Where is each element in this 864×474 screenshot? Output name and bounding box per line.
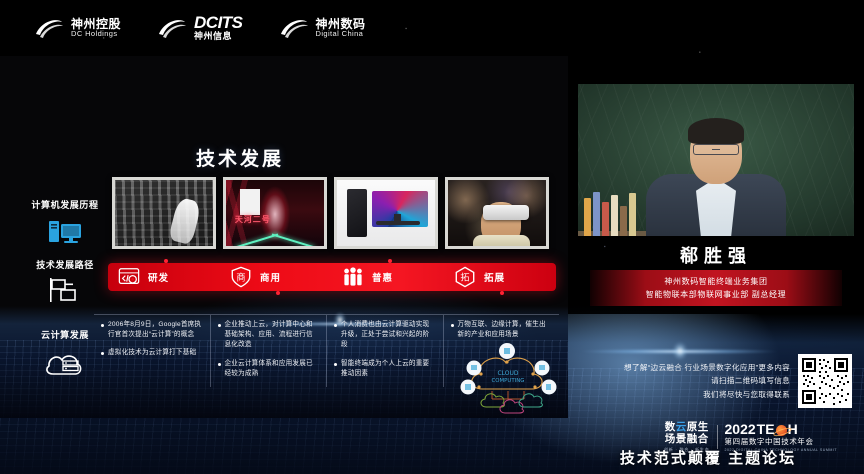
speaker-hair <box>688 118 744 144</box>
bullet-item: 智能终端成为个人上云的重要推动因素 <box>334 359 436 379</box>
row-label-text: 技术发展路径 <box>22 258 108 271</box>
bullet-dot-icon <box>218 363 221 366</box>
bullet-item: 虚拟化技术为云计算打下基础 <box>101 348 203 358</box>
timeline-stage-commercial[interactable]: 商 商用 <box>220 266 332 288</box>
presentation-stage: 神州控股 DC Holdings DCITS 神州信息 神州数码 Digital… <box>0 0 864 474</box>
computer-history-photo-strip: 天河二号 <box>112 177 549 249</box>
code-gear-icon <box>118 266 140 288</box>
flowchart-icon <box>49 277 81 303</box>
shield-shang-icon: 商 <box>230 266 252 288</box>
timeline-node-dot <box>276 291 280 295</box>
logo-dcits-cn: 神州信息 <box>194 32 243 41</box>
desktop-computer-icon <box>48 217 82 247</box>
cloud-column-1: 2006年8月9日，Google首席执行官首次提出“云计算”的概念 虚拟化技术为… <box>94 314 210 387</box>
timeline-stage-label: 普惠 <box>372 270 393 284</box>
logo-dc-holdings: 神州控股 DC Holdings <box>34 17 121 39</box>
bullet-item: 企业云计算体系和应用发展已经较为成熟 <box>218 359 320 379</box>
logo-dcits-en: DCITS <box>194 14 243 32</box>
logo-dc-holdings-en: DC Holdings <box>71 30 121 38</box>
row-label-text: 计算机发展历程 <box>22 198 108 211</box>
bullet-text: 虚拟化技术为云计算打下基础 <box>108 348 196 358</box>
logo-digital-china-en: Digital China <box>316 30 366 38</box>
bullet-text: 企业云计算体系和应用发展已经较为成熟 <box>225 359 320 379</box>
row-label-computer-history: 计算机发展历程 <box>22 198 108 247</box>
bullet-dot-icon <box>218 324 221 327</box>
bullet-dot-icon <box>334 324 337 327</box>
bullet-text: 万物互联、边缘计算，催生出新的产业和应用场景 <box>458 320 553 340</box>
qr-code[interactable] <box>798 354 852 408</box>
row-label-tech-path: 技术发展路径 <box>22 258 108 303</box>
bullet-text: 企业推动上云，对计算中心和基础架构、应用、流程进行信息化改造 <box>225 320 320 351</box>
slide-title: 技术发展 <box>196 144 284 171</box>
speaker-panel: 郗胜强 神州数码智能终端业务集团 智能物联本部物联网事业部 副总经理 想了解“边… <box>568 56 864 474</box>
glasses-icon <box>693 144 739 155</box>
timeline-node-dot <box>164 259 168 263</box>
timeline-stage-label: 拓展 <box>484 270 505 284</box>
qr-code-icon <box>800 356 850 406</box>
timeline-node-dot <box>500 291 504 295</box>
photo-supercomputer-datacenter: 天河二号 <box>223 177 327 249</box>
sun-orb-icon <box>776 425 787 436</box>
event-logo-divider <box>717 425 718 449</box>
logo-digital-china: 神州数码 Digital China <box>279 17 366 39</box>
event-year-tech: 2022TEH <box>725 422 838 438</box>
event-bottom-bar: 数云原生 场景融合 创新 · 融合 · 新生态 2022TEH 第四届数字中国技… <box>568 418 864 474</box>
event-year: 2022 <box>725 422 756 438</box>
speaker-video[interactable] <box>578 84 854 236</box>
event-logo-line2: 场景融合 <box>664 434 710 446</box>
bullet-item: 万物互联、边缘计算，催生出新的产业和应用场景 <box>451 320 553 340</box>
timeline-stage-rd[interactable]: 研发 <box>108 266 220 288</box>
swoosh-icon <box>34 17 64 39</box>
swoosh-icon <box>157 17 187 39</box>
people-group-icon <box>342 266 364 288</box>
event-logo-char-a: 数 <box>665 421 676 433</box>
bullet-item: 企业推动上云，对计算中心和基础架构、应用、流程进行信息化改造 <box>218 320 320 351</box>
photo-vr-headset <box>445 177 549 249</box>
hexagon-tuo-icon: 拓 <box>454 266 476 288</box>
qr-text-line1: 想了解“边云融合 行业场景数字化应用”更多内容 <box>624 361 790 374</box>
cloud-computing-diagram: CLOUD COMPUTING <box>452 343 564 418</box>
timeline-stage-expansion[interactable]: 拓 拓展 <box>444 266 556 288</box>
bullet-dot-icon <box>101 324 104 327</box>
tech-path-timeline: 研发 商 商用 普惠 <box>108 263 556 291</box>
event-cn-name: 第四届数字中国技术年会 <box>725 438 838 446</box>
forum-title: 技术范式颠覆 主题论坛 <box>568 447 848 468</box>
timeline-node-dot <box>388 259 392 263</box>
photo-desktop-pc <box>334 177 438 249</box>
timeline-stage-inclusive[interactable]: 普惠 <box>332 266 444 288</box>
photo-early-computer <box>112 177 216 249</box>
bullet-dot-icon <box>101 352 104 355</box>
cloud-computing-graphic: CLOUD COMPUTING <box>452 343 564 418</box>
cloud-column-3: 个人消费也由云计算驱动实现升级，正处于尝试和兴起的阶段 智能终端成为个人上云的重… <box>326 314 443 387</box>
brand-logo-bar: 神州控股 DC Holdings DCITS 神州信息 神州数码 Digital… <box>0 0 864 56</box>
qr-text-block: 想了解“边云融合 行业场景数字化应用”更多内容 请扫描二维码填写信息 我们将尽快… <box>624 361 790 401</box>
event-logo-char-c: 原生 <box>687 421 709 433</box>
diagram-center-label-2: COMPUTING <box>492 378 525 384</box>
bullet-text: 智能终端成为个人上云的重要推动因素 <box>341 359 436 379</box>
svg-text:拓: 拓 <box>460 272 469 284</box>
logo-dcits: DCITS 神州信息 <box>157 14 243 41</box>
cloud-column-2: 企业推动上云，对计算中心和基础架构、应用、流程进行信息化改造 企业云计算体系和应… <box>210 314 327 387</box>
speaker-title-line1: 神州数码智能终端业务集团 <box>596 275 836 288</box>
event-tech-text: TE <box>757 422 775 438</box>
speaker-title-banner: 神州数码智能终端业务集团 智能物联本部物联网事业部 副总经理 <box>590 270 842 306</box>
bullet-item: 2006年8月9日，Google首席执行官首次提出“云计算”的概念 <box>101 320 203 340</box>
speaker-title-line2: 智能物联本部物联网事业部 副总经理 <box>596 288 836 301</box>
books-stack <box>584 190 636 236</box>
bullet-text: 2006年8月9日，Google首席执行官首次提出“云计算”的概念 <box>108 320 203 340</box>
bullet-item: 个人消费也由云计算驱动实现升级，正处于尝试和兴起的阶段 <box>334 320 436 351</box>
speaker-figure <box>641 118 791 236</box>
timeline-stage-label: 研发 <box>148 270 169 284</box>
slide-content: 技术发展 计算机发展历程 技术发展路径 <box>0 56 568 418</box>
bullet-text: 个人消费也由云计算驱动实现升级，正处于尝试和兴起的阶段 <box>341 320 436 351</box>
diagram-center-label-1: CLOUD <box>497 370 518 377</box>
bullet-dot-icon <box>334 363 337 366</box>
qr-text-line3: 我们将尽快与您取得联系 <box>624 388 790 401</box>
swoosh-icon <box>279 17 309 39</box>
svg-text:商: 商 <box>236 272 245 284</box>
bullet-dot-icon <box>451 324 454 327</box>
event-logo-line1: 数云原生 <box>664 422 710 434</box>
cloud-server-icon <box>44 347 86 379</box>
event-logo-char-b: 云 <box>676 421 687 433</box>
qr-text-line2: 请扫描二维码填写信息 <box>624 374 790 387</box>
photo-caption-tianhe: 天河二号 <box>235 214 271 225</box>
qr-callout: 想了解“边云融合 行业场景数字化应用”更多内容 请扫描二维码填写信息 我们将尽快… <box>582 354 852 408</box>
timeline-stage-label: 商用 <box>260 270 281 284</box>
speaker-name: 郗胜强 <box>568 242 864 268</box>
